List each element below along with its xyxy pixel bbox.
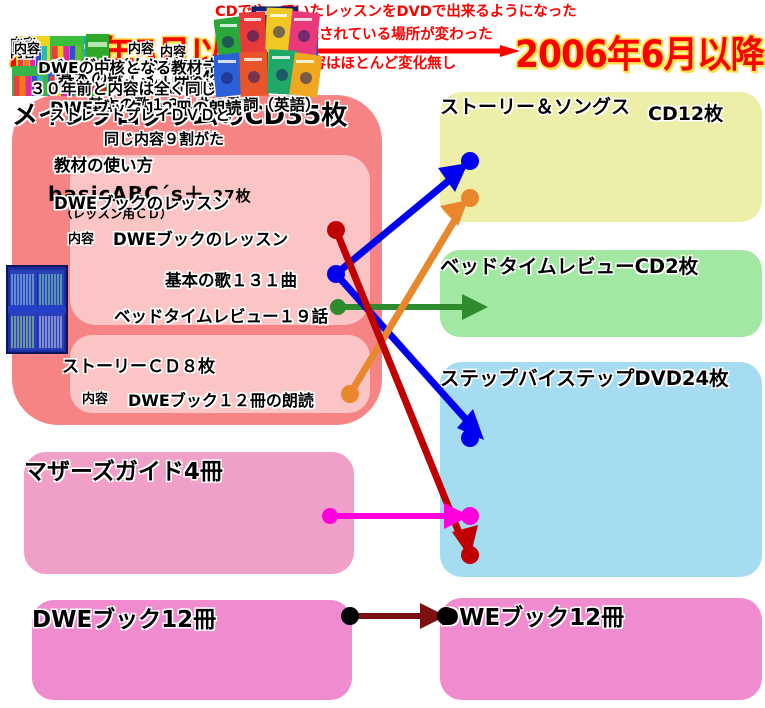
item-basic-songs-left: 基本の歌１３１曲 <box>165 267 297 291</box>
diagram-canvas: CDでやっていたレッスンをDVDで出来るようになった 収録されている場所が変わっ… <box>0 0 765 708</box>
story-cd-heading: ストーリーＣＤ８枚 <box>62 352 215 377</box>
dwe-books-photo-right <box>214 2 322 100</box>
dwe-book-right-title: DWEブック12冊 <box>440 598 762 632</box>
dwe-book-left-box: DWEブック12冊 <box>32 600 352 700</box>
item-dwe-book-lesson-left: DWEブックのレッスン <box>113 226 288 250</box>
connector-dwe-book-to-dwe-book <box>341 603 455 629</box>
naiyou-label-dwe-right: 内容 <box>14 38 40 57</box>
bedtime-review-box: ベッドタイムレビューCD2枚 <box>440 250 762 337</box>
story-songs-box: ストーリー＆ソングス CD12枚 <box>440 92 762 222</box>
mothers-guide-title: マザーズガイド4冊 <box>24 452 354 486</box>
straight-play-note-line2: 同じ内容９割がた <box>104 128 224 149</box>
item-dwe-book-lesson-dvd: DWEブックのレッスン <box>54 190 229 214</box>
mothers-guide-box: マザーズガイド4冊 <box>24 452 354 574</box>
item-dwe-same-right: ３０年前と内容は全く同じ <box>30 77 216 99</box>
dwe-book-left-title: DWEブック12冊 <box>32 600 352 634</box>
naiyou-label-story-cd: 内容 <box>82 388 108 407</box>
step-by-step-dvd-box: ステップバイステップDVD24枚 <box>440 362 762 577</box>
naiyou-label-basic-abc: 内容 <box>68 228 94 247</box>
item-bedtime-review-left: ベッドタイムレビュー１９話 <box>114 303 328 327</box>
straight-play-note-line1: ストレートプレイＤＶＤと <box>50 104 230 125</box>
dwe-book-right-box: DWEブック12冊 <box>440 598 762 700</box>
cd-cases-photo <box>4 262 70 357</box>
item-dwe-book-reading-left: DWEブック１２冊の朗読 <box>128 387 314 411</box>
story-songs-count: CD12枚 <box>648 99 723 126</box>
era-after-title: 2006年6月以降 <box>515 24 764 78</box>
bedtime-review-title: ベッドタイムレビューCD2枚 <box>440 250 762 279</box>
step-by-step-dvd-title: ステップバイステップDVD24枚 <box>440 362 762 391</box>
item-usage-dvd: 教材の使い方 <box>54 152 153 176</box>
item-dwe-core-right: DWEの中核となる教材 <box>38 56 202 78</box>
